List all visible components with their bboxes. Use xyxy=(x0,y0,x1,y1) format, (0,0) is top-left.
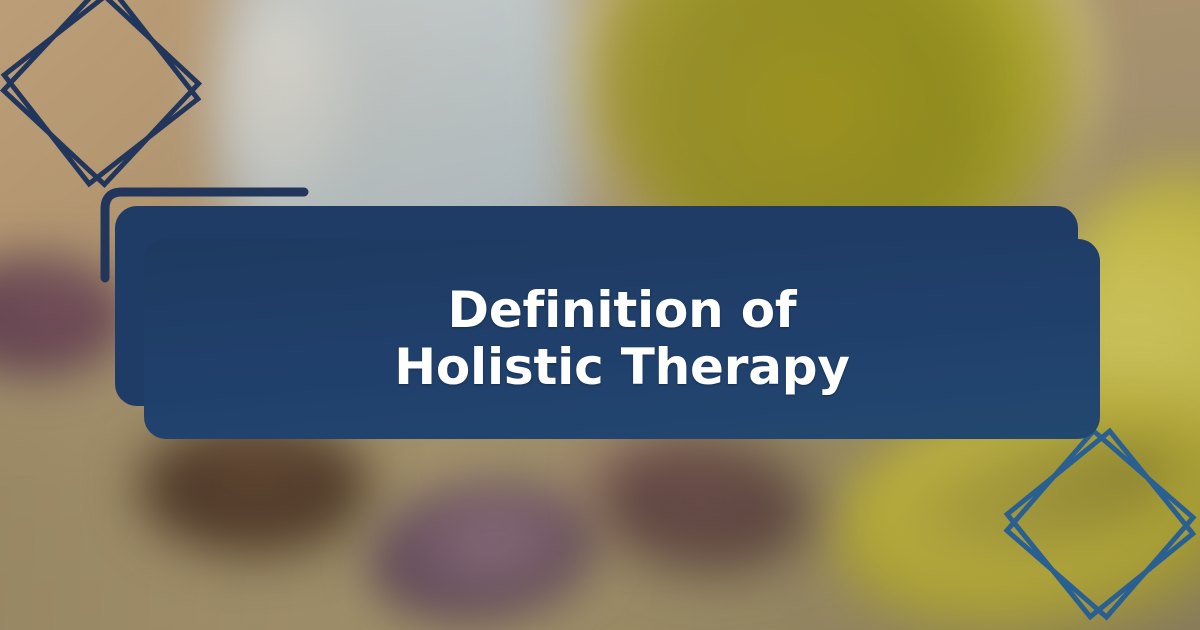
banner-title-container: Definition of Holistic Therapy xyxy=(144,239,1100,439)
background-bottle-highlight xyxy=(230,10,340,200)
page-title: Definition of Holistic Therapy xyxy=(352,282,892,396)
banner-canvas: Definition of Holistic Therapy xyxy=(0,0,1200,630)
